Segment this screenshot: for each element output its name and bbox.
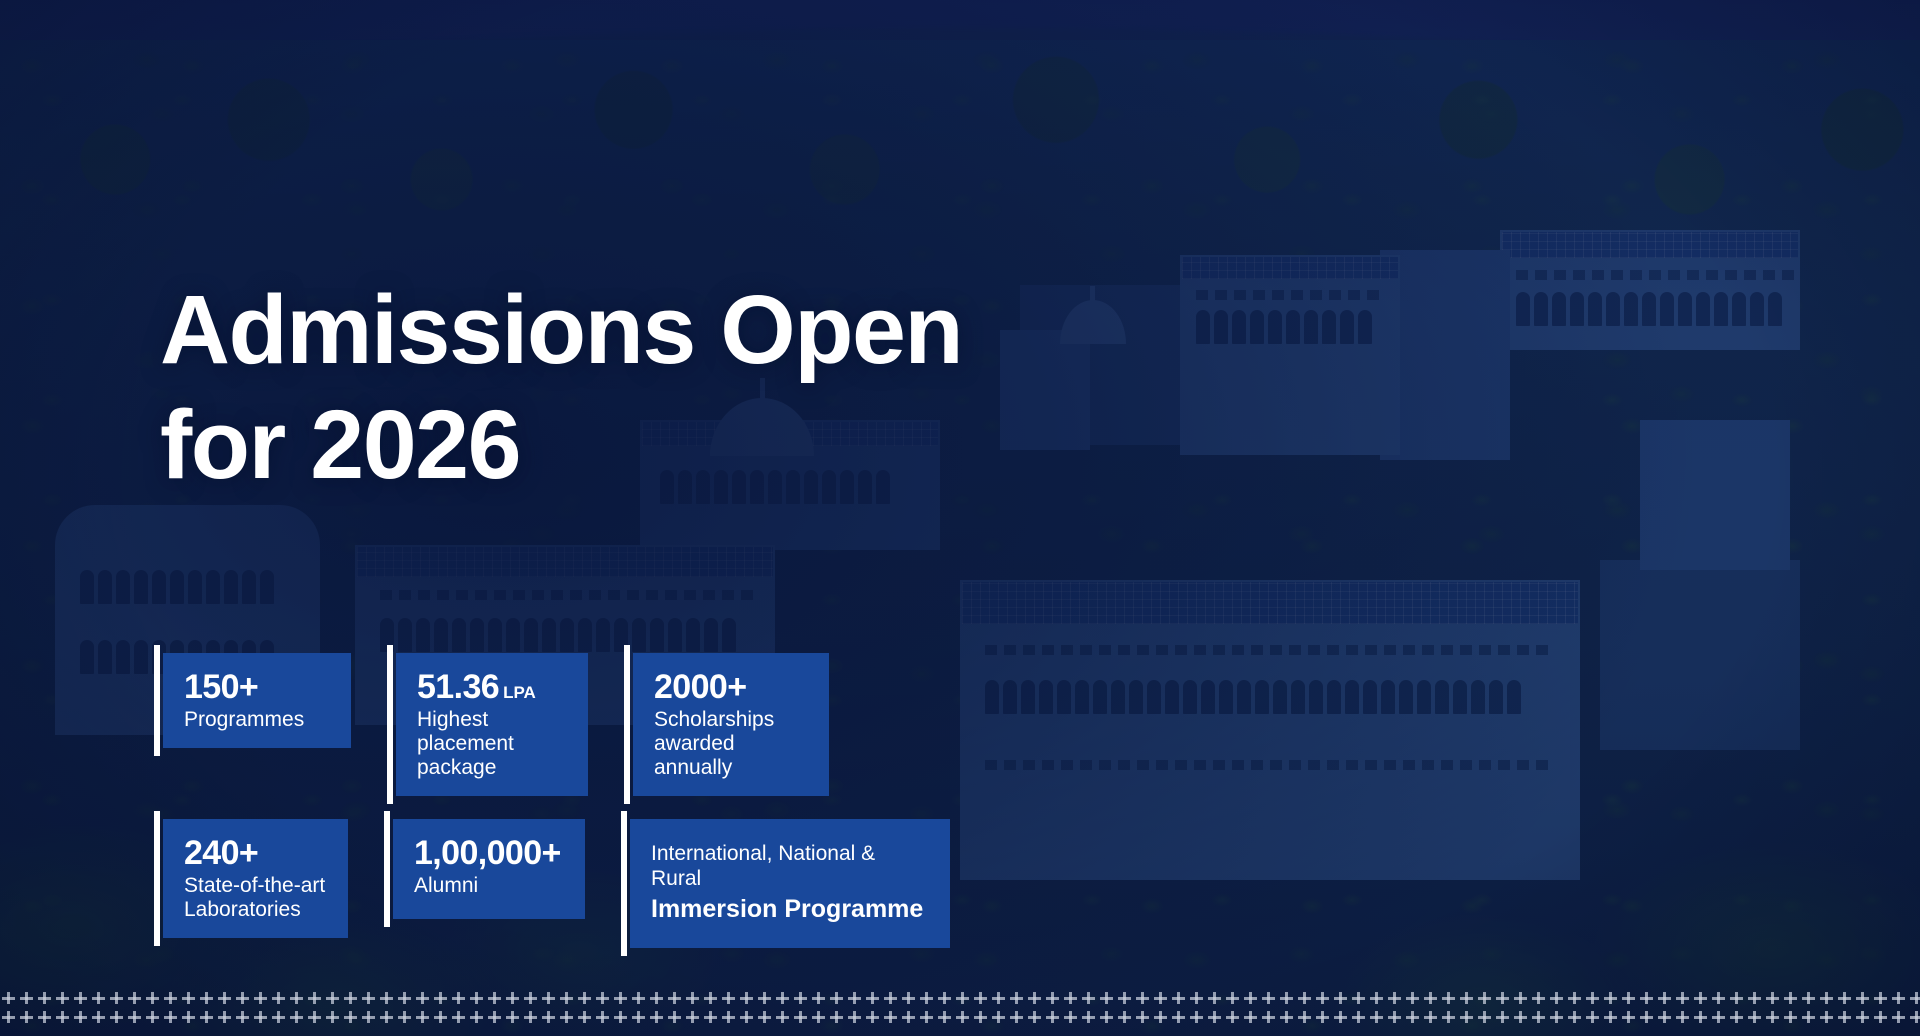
plus-icon — [144, 990, 162, 1009]
stat-number: 51.36 LPA — [417, 670, 566, 705]
stats-row-1: 150+ Programmes 51.36 LPA Highest placem… — [163, 653, 1093, 796]
plus-icon — [306, 1009, 324, 1028]
plus-icon — [1224, 1009, 1242, 1028]
plus-icon — [756, 990, 774, 1009]
plus-icon — [738, 1009, 756, 1028]
plus-icon — [756, 1009, 774, 1028]
plus-icon — [1890, 1009, 1908, 1028]
plus-icon — [18, 990, 36, 1009]
plus-icon — [954, 990, 972, 1009]
banner-content: Admissions Open for 2026 150+ Programmes… — [0, 0, 1920, 1036]
plus-icon — [1440, 1009, 1458, 1028]
stat-value: 150+ — [184, 670, 258, 705]
plus-icon — [1818, 1009, 1836, 1028]
plus-icon — [0, 1009, 18, 1028]
plus-icon — [1260, 1009, 1278, 1028]
plus-icon — [1584, 1009, 1602, 1028]
plus-icon — [1260, 990, 1278, 1009]
plus-icon — [1728, 990, 1746, 1009]
plus-icon — [648, 990, 666, 1009]
stat-value: 240+ — [184, 836, 258, 871]
stat-label: Programmes — [184, 708, 329, 732]
plus-icon — [900, 1009, 918, 1028]
plus-icon — [36, 990, 54, 1009]
plus-icon — [1008, 990, 1026, 1009]
plus-icon — [90, 990, 108, 1009]
plus-icon — [846, 1009, 864, 1028]
plus-icon — [504, 990, 522, 1009]
plus-icon — [18, 1009, 36, 1028]
plus-icon — [72, 990, 90, 1009]
plus-icon — [594, 1009, 612, 1028]
plus-pattern-row — [0, 990, 1920, 1009]
plus-icon — [1170, 990, 1188, 1009]
plus-icon — [810, 1009, 828, 1028]
stat-unit: LPA — [503, 684, 536, 701]
plus-icon — [1188, 990, 1206, 1009]
plus-icon — [1674, 1009, 1692, 1028]
immersion-subtitle: International, National & Rural — [651, 841, 928, 891]
plus-icon — [126, 990, 144, 1009]
plus-icon — [1296, 990, 1314, 1009]
plus-icon — [1314, 990, 1332, 1009]
plus-icon — [1692, 990, 1710, 1009]
plus-icon — [648, 1009, 666, 1028]
plus-icon — [0, 990, 18, 1009]
plus-icon — [1098, 1009, 1116, 1028]
plus-icon — [1728, 1009, 1746, 1028]
plus-icon — [702, 1009, 720, 1028]
plus-icon — [1242, 990, 1260, 1009]
plus-icon — [216, 990, 234, 1009]
plus-icon — [540, 990, 558, 1009]
admissions-banner: Admissions Open for 2026 150+ Programmes… — [0, 0, 1920, 1036]
plus-icon — [1278, 1009, 1296, 1028]
plus-icon — [1620, 990, 1638, 1009]
plus-icon — [1674, 990, 1692, 1009]
plus-icon — [468, 990, 486, 1009]
plus-icon — [1638, 1009, 1656, 1028]
plus-icon — [522, 1009, 540, 1028]
plus-icon — [918, 990, 936, 1009]
plus-icon — [432, 990, 450, 1009]
plus-icon — [1908, 1009, 1920, 1028]
plus-icon — [864, 1009, 882, 1028]
plus-icon — [1656, 990, 1674, 1009]
stat-value: 51.36 — [417, 670, 499, 705]
plus-pattern-row — [0, 1009, 1920, 1028]
plus-icon — [1386, 1009, 1404, 1028]
plus-icon — [396, 990, 414, 1009]
plus-icon — [1044, 1009, 1062, 1028]
plus-icon — [684, 1009, 702, 1028]
plus-icon — [1872, 990, 1890, 1009]
stat-number: 1,00,000+ — [414, 836, 563, 871]
plus-icon — [900, 990, 918, 1009]
plus-icon — [1044, 990, 1062, 1009]
plus-icon — [864, 990, 882, 1009]
plus-icon — [774, 1009, 792, 1028]
plus-icon — [630, 1009, 648, 1028]
plus-icon — [684, 990, 702, 1009]
plus-icon — [1638, 990, 1656, 1009]
stat-card-scholarships: 2000+ Scholarships awarded annually — [633, 653, 829, 796]
plus-icon — [630, 990, 648, 1009]
plus-icon — [720, 990, 738, 1009]
plus-icon — [1692, 1009, 1710, 1028]
stat-label: Alumni — [414, 874, 563, 898]
page-title: Admissions Open for 2026 — [160, 272, 962, 503]
plus-icon — [1764, 1009, 1782, 1028]
plus-icon — [540, 1009, 558, 1028]
plus-icon — [774, 990, 792, 1009]
plus-icon — [576, 990, 594, 1009]
plus-icon — [1476, 1009, 1494, 1028]
plus-icon — [1836, 1009, 1854, 1028]
plus-icon — [1656, 1009, 1674, 1028]
plus-icon — [378, 990, 396, 1009]
plus-icon — [576, 1009, 594, 1028]
stat-value: 1,00,000+ — [414, 836, 561, 871]
plus-icon — [1134, 990, 1152, 1009]
plus-icon — [126, 1009, 144, 1028]
plus-icon — [666, 1009, 684, 1028]
plus-icon — [270, 990, 288, 1009]
plus-icon — [162, 990, 180, 1009]
plus-icon — [1062, 990, 1080, 1009]
plus-icon — [1602, 1009, 1620, 1028]
plus-icon — [1854, 1009, 1872, 1028]
plus-icon — [1746, 990, 1764, 1009]
plus-icon — [558, 990, 576, 1009]
plus-icon — [360, 1009, 378, 1028]
plus-pattern-band — [0, 990, 1920, 1036]
plus-icon — [1800, 1009, 1818, 1028]
plus-icon — [1908, 990, 1920, 1009]
plus-icon — [378, 1009, 396, 1028]
stat-value: 2000+ — [654, 670, 747, 705]
plus-icon — [234, 990, 252, 1009]
plus-icon — [1314, 1009, 1332, 1028]
immersion-title: Immersion Programme — [651, 894, 928, 925]
plus-icon — [252, 990, 270, 1009]
plus-icon — [1458, 990, 1476, 1009]
plus-icon — [810, 990, 828, 1009]
plus-icon — [72, 1009, 90, 1028]
stat-number: 2000+ — [654, 670, 807, 705]
plus-icon — [1746, 1009, 1764, 1028]
plus-icon — [594, 990, 612, 1009]
plus-icon — [1206, 1009, 1224, 1028]
plus-icon — [1152, 1009, 1170, 1028]
plus-icon — [972, 1009, 990, 1028]
plus-icon — [1512, 1009, 1530, 1028]
plus-icon — [234, 1009, 252, 1028]
plus-icon — [198, 990, 216, 1009]
stat-card-laboratories: 240+ State-of-the-art Laboratories — [163, 819, 348, 938]
plus-icon — [1278, 990, 1296, 1009]
plus-icon — [216, 1009, 234, 1028]
stat-card-immersion-programme: International, National & Rural Immersio… — [630, 819, 950, 948]
plus-icon — [1152, 990, 1170, 1009]
stats-grid: 150+ Programmes 51.36 LPA Highest placem… — [163, 653, 1093, 948]
plus-icon — [1620, 1009, 1638, 1028]
plus-icon — [288, 1009, 306, 1028]
plus-icon — [108, 990, 126, 1009]
plus-icon — [918, 1009, 936, 1028]
plus-icon — [1494, 1009, 1512, 1028]
plus-icon — [522, 990, 540, 1009]
plus-icon — [1350, 990, 1368, 1009]
stat-label: Highest placement package — [417, 708, 566, 780]
plus-icon — [54, 990, 72, 1009]
plus-icon — [360, 990, 378, 1009]
plus-icon — [1098, 990, 1116, 1009]
plus-icon — [792, 1009, 810, 1028]
plus-icon — [828, 1009, 846, 1028]
plus-icon — [198, 1009, 216, 1028]
plus-icon — [324, 990, 342, 1009]
plus-icon — [144, 1009, 162, 1028]
plus-icon — [1890, 990, 1908, 1009]
plus-icon — [1836, 990, 1854, 1009]
plus-icon — [1530, 1009, 1548, 1028]
plus-icon — [1872, 1009, 1890, 1028]
plus-icon — [1062, 1009, 1080, 1028]
plus-icon — [1296, 1009, 1314, 1028]
plus-icon — [1422, 990, 1440, 1009]
plus-icon — [1170, 1009, 1188, 1028]
plus-icon — [1350, 1009, 1368, 1028]
plus-icon — [1458, 1009, 1476, 1028]
plus-icon — [1602, 990, 1620, 1009]
plus-icon — [612, 990, 630, 1009]
plus-icon — [54, 1009, 72, 1028]
plus-icon — [1242, 1009, 1260, 1028]
plus-icon — [1026, 990, 1044, 1009]
stat-card-highest-placement-package: 51.36 LPA Highest placement package — [396, 653, 588, 796]
plus-icon — [36, 1009, 54, 1028]
plus-icon — [828, 990, 846, 1009]
plus-icon — [1782, 990, 1800, 1009]
plus-icon — [486, 1009, 504, 1028]
plus-icon — [1224, 990, 1242, 1009]
plus-icon — [1782, 1009, 1800, 1028]
plus-icon — [1116, 1009, 1134, 1028]
stat-card-programmes: 150+ Programmes — [163, 653, 351, 748]
stat-number: 150+ — [184, 670, 329, 705]
plus-icon — [342, 990, 360, 1009]
stat-label: Scholarships awarded annually — [654, 708, 807, 780]
plus-icon — [504, 1009, 522, 1028]
plus-icon — [558, 1009, 576, 1028]
stat-card-alumni: 1,00,000+ Alumni — [393, 819, 585, 919]
plus-icon — [1404, 1009, 1422, 1028]
plus-icon — [486, 990, 504, 1009]
plus-icon — [1404, 990, 1422, 1009]
plus-icon — [1566, 1009, 1584, 1028]
plus-icon — [990, 990, 1008, 1009]
plus-icon — [90, 1009, 108, 1028]
plus-icon — [936, 1009, 954, 1028]
plus-icon — [738, 990, 756, 1009]
plus-icon — [792, 990, 810, 1009]
plus-icon — [1080, 990, 1098, 1009]
plus-icon — [1764, 990, 1782, 1009]
plus-icon — [414, 1009, 432, 1028]
stat-label: State-of-the-art Laboratories — [184, 874, 326, 922]
plus-icon — [162, 1009, 180, 1028]
plus-icon — [324, 1009, 342, 1028]
plus-icon — [1386, 990, 1404, 1009]
plus-icon — [846, 990, 864, 1009]
plus-icon — [990, 1009, 1008, 1028]
plus-icon — [306, 990, 324, 1009]
stat-number: 240+ — [184, 836, 326, 871]
plus-icon — [1512, 990, 1530, 1009]
plus-icon — [1530, 990, 1548, 1009]
plus-icon — [1800, 990, 1818, 1009]
plus-icon — [180, 990, 198, 1009]
plus-icon — [972, 990, 990, 1009]
plus-icon — [1566, 990, 1584, 1009]
plus-icon — [450, 1009, 468, 1028]
plus-icon — [1476, 990, 1494, 1009]
plus-icon — [1116, 990, 1134, 1009]
plus-icon — [612, 1009, 630, 1028]
plus-icon — [882, 1009, 900, 1028]
plus-icon — [1188, 1009, 1206, 1028]
plus-icon — [666, 990, 684, 1009]
plus-icon — [1332, 1009, 1350, 1028]
plus-icon — [936, 990, 954, 1009]
plus-icon — [180, 1009, 198, 1028]
plus-icon — [396, 1009, 414, 1028]
plus-icon — [1026, 1009, 1044, 1028]
plus-icon — [1134, 1009, 1152, 1028]
plus-icon — [270, 1009, 288, 1028]
plus-icon — [288, 990, 306, 1009]
plus-icon — [342, 1009, 360, 1028]
plus-icon — [108, 1009, 126, 1028]
plus-icon — [1008, 1009, 1026, 1028]
plus-icon — [954, 1009, 972, 1028]
plus-icon — [1368, 1009, 1386, 1028]
plus-icon — [1206, 990, 1224, 1009]
stats-row-2: 240+ State-of-the-art Laboratories 1,00,… — [163, 819, 1093, 948]
plus-icon — [1548, 990, 1566, 1009]
plus-icon — [1710, 990, 1728, 1009]
plus-icon — [1368, 990, 1386, 1009]
plus-icon — [1080, 1009, 1098, 1028]
plus-icon — [1710, 1009, 1728, 1028]
plus-icon — [1584, 990, 1602, 1009]
plus-icon — [450, 990, 468, 1009]
plus-icon — [1494, 990, 1512, 1009]
plus-icon — [1548, 1009, 1566, 1028]
plus-icon — [1422, 1009, 1440, 1028]
plus-icon — [720, 1009, 738, 1028]
plus-icon — [1854, 990, 1872, 1009]
plus-icon — [468, 1009, 486, 1028]
plus-icon — [252, 1009, 270, 1028]
plus-icon — [432, 1009, 450, 1028]
plus-icon — [702, 990, 720, 1009]
plus-icon — [1332, 990, 1350, 1009]
plus-icon — [882, 990, 900, 1009]
plus-icon — [1818, 990, 1836, 1009]
plus-icon — [1440, 990, 1458, 1009]
plus-icon — [414, 990, 432, 1009]
